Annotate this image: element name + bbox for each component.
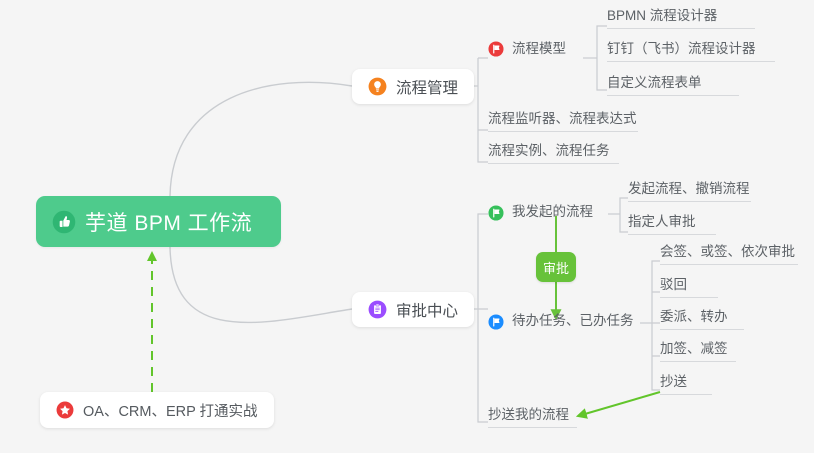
wire-my-processes-branch: [620, 198, 628, 232]
thumbs-up-icon: [52, 210, 76, 234]
leaf-custom-form-label: 自定义流程表单: [607, 76, 702, 91]
leaf-add-remove-sign[interactable]: 加签、减签: [660, 342, 736, 362]
root-node[interactable]: 芋道 BPM 工作流: [36, 196, 281, 247]
leaf-reject[interactable]: 驳回: [660, 278, 718, 298]
node-approval-center[interactable]: 审批中心: [352, 292, 474, 327]
leaf-bpmn-designer[interactable]: BPMN 流程设计器: [607, 8, 755, 29]
node-my-processes-label: 我发起的流程: [512, 205, 593, 220]
flag-icon: [488, 205, 504, 221]
node-approval-center-label: 审批中心: [396, 299, 458, 321]
node-process-model[interactable]: 流程模型: [488, 42, 583, 59]
arrow-cc-to-cc-my-processes: [578, 392, 660, 416]
mindmap-canvas: 芋道 BPM 工作流 流程管理 流程模型 BPMN 流程设计器 钉钉（飞书: [0, 0, 814, 453]
leaf-add-remove-sign-label: 加签、减签: [660, 342, 728, 357]
flag-icon: [488, 41, 504, 57]
node-my-processes[interactable]: 我发起的流程: [488, 205, 608, 223]
node-todo-done-tasks[interactable]: 待办任务、已办任务: [488, 313, 640, 333]
lightbulb-icon: [368, 77, 387, 96]
wire-approval-center-branch: [478, 214, 488, 422]
node-integration-note[interactable]: OA、CRM、ERP 打通实战: [40, 392, 274, 428]
leaf-bpmn-designer-label: BPMN 流程设计器: [607, 9, 717, 24]
node-todo-done-tasks-label: 待办任务、已办任务: [512, 314, 634, 329]
node-process-management[interactable]: 流程管理: [352, 69, 474, 104]
flag-icon: [488, 314, 504, 330]
wire-tasks-branch: [652, 261, 660, 390]
leaf-process-instance-label: 流程实例、流程任务: [488, 144, 610, 159]
leaf-dingtalk-designer[interactable]: 钉钉（飞书）流程设计器: [607, 41, 775, 62]
clipboard-icon: [368, 300, 387, 319]
root-node-label: 芋道 BPM 工作流: [85, 207, 252, 237]
star-icon: [56, 401, 74, 419]
wire-process-model-branch: [597, 26, 607, 90]
leaf-cc-my-processes[interactable]: 抄送我的流程: [488, 408, 577, 428]
leaf-assignee-approval[interactable]: 指定人审批: [628, 215, 716, 235]
leaf-process-instance[interactable]: 流程实例、流程任务: [488, 143, 619, 164]
leaf-start-cancel-process-label: 发起流程、撤销流程: [628, 182, 750, 197]
approval-badge-label: 审批: [543, 258, 569, 277]
leaf-countersign[interactable]: 会签、或签、依次审批: [660, 245, 798, 265]
leaf-cc-my-processes-label: 抄送我的流程: [488, 408, 569, 423]
leaf-assignee-approval-label: 指定人审批: [628, 215, 696, 230]
leaf-reject-label: 驳回: [660, 278, 687, 293]
leaf-dingtalk-designer-label: 钉钉（飞书）流程设计器: [607, 42, 756, 57]
wire-process-management-branch: [478, 58, 488, 162]
leaf-custom-form[interactable]: 自定义流程表单: [607, 75, 739, 96]
node-process-management-label: 流程管理: [396, 76, 458, 98]
node-process-model-label: 流程模型: [512, 42, 566, 57]
leaf-cc-label: 抄送: [660, 375, 687, 390]
node-integration-note-label: OA、CRM、ERP 打通实战: [83, 400, 258, 421]
leaf-process-listener[interactable]: 流程监听器、流程表达式: [488, 111, 638, 132]
leaf-delegate-transfer-label: 委派、转办: [660, 310, 728, 325]
leaf-process-listener-label: 流程监听器、流程表达式: [488, 112, 637, 127]
leaf-delegate-transfer[interactable]: 委派、转办: [660, 310, 744, 330]
approval-badge[interactable]: 审批: [536, 252, 576, 282]
wire-root-to-approval-center: [170, 247, 352, 323]
wire-root-to-process-management: [170, 82, 352, 196]
leaf-start-cancel-process[interactable]: 发起流程、撤销流程: [628, 182, 751, 202]
leaf-countersign-label: 会签、或签、依次审批: [660, 245, 795, 260]
leaf-cc[interactable]: 抄送: [660, 375, 712, 395]
